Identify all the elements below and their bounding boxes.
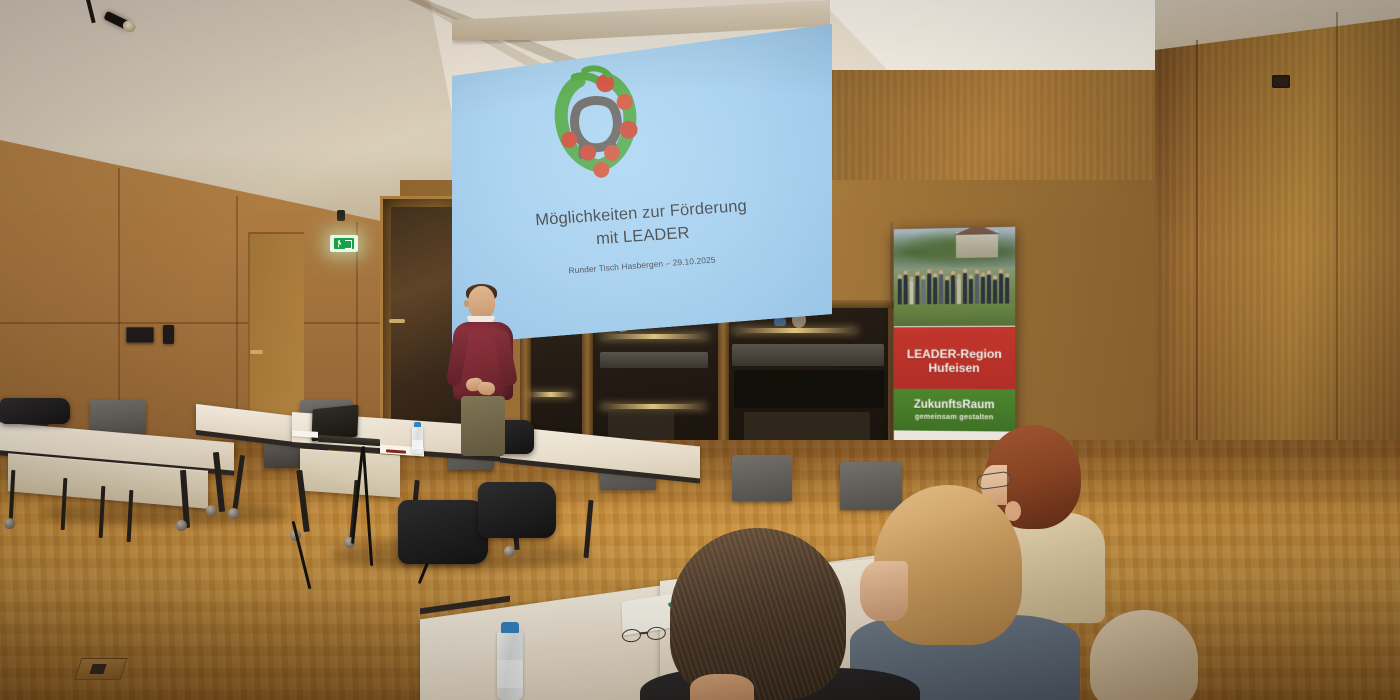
bottle-label [412, 440, 423, 449]
wall-plate-icon[interactable] [1272, 75, 1290, 88]
presenter-trousers [461, 396, 505, 456]
meeting-room-photo: Möglichkeiten zur Förderung mit LEADER R… [0, 0, 1400, 700]
attendee-dark-hair-man [660, 528, 890, 700]
banner-photo-lawn [894, 303, 1015, 326]
banner-photo-crowd [894, 257, 1015, 304]
banner-subhead-line2: gemeinsam gestalten [915, 412, 994, 422]
backpack [398, 500, 488, 564]
chair[interactable] [90, 400, 146, 434]
light-switch[interactable] [163, 325, 174, 344]
banner-headline-block: LEADER-Region Hufeisen [894, 327, 1015, 390]
table-caster [4, 518, 15, 529]
reflected-counter [600, 352, 708, 368]
reflected-led-strip [528, 392, 574, 397]
presenter [448, 286, 518, 456]
bottle-cap-icon [501, 622, 519, 633]
banner-headline-line1: LEADER-Region [907, 348, 1002, 362]
slide-title: Möglichkeiten zur Förderung mit LEADER [481, 191, 804, 259]
av-control-panel[interactable] [126, 327, 154, 343]
banner-headline-line2: Hufeisen [928, 361, 979, 375]
presenter-head [468, 286, 495, 319]
attendee-partial [1090, 600, 1210, 700]
attendee-neck [690, 674, 754, 700]
running-man-exit-icon [334, 238, 354, 249]
reflected-led-strip [600, 404, 706, 409]
door-handle-icon [389, 319, 405, 323]
table-caster [206, 505, 217, 516]
backpack [478, 482, 556, 538]
bottle-label [497, 660, 523, 688]
chair[interactable] [732, 455, 792, 501]
attendee-hair [670, 528, 846, 700]
hufeisen-horseshoe-logo [548, 61, 644, 185]
table-modesty-panel [300, 449, 400, 498]
sensor-icon [337, 210, 345, 221]
presenter-ear [464, 300, 469, 307]
table-caster [176, 520, 187, 531]
door-handle-icon [250, 350, 263, 354]
floor-outlet-box [74, 658, 127, 680]
reflected-counter [732, 344, 884, 366]
table-caster [504, 546, 515, 557]
reflected-dark-mass [734, 370, 884, 408]
attendee-hair [1090, 610, 1198, 700]
glasses-lens [621, 628, 641, 643]
table-caster [228, 508, 239, 519]
bottle-cap-icon [414, 422, 421, 427]
door-far[interactable] [248, 232, 304, 432]
attendee-blonde-woman [860, 485, 1070, 700]
banner-group-photo [894, 227, 1015, 327]
bag [0, 398, 70, 424]
banner-subhead-line1: ZukunftsRaum [914, 399, 995, 412]
banner-photo-building [956, 231, 998, 258]
emergency-exit-sign [330, 235, 358, 252]
